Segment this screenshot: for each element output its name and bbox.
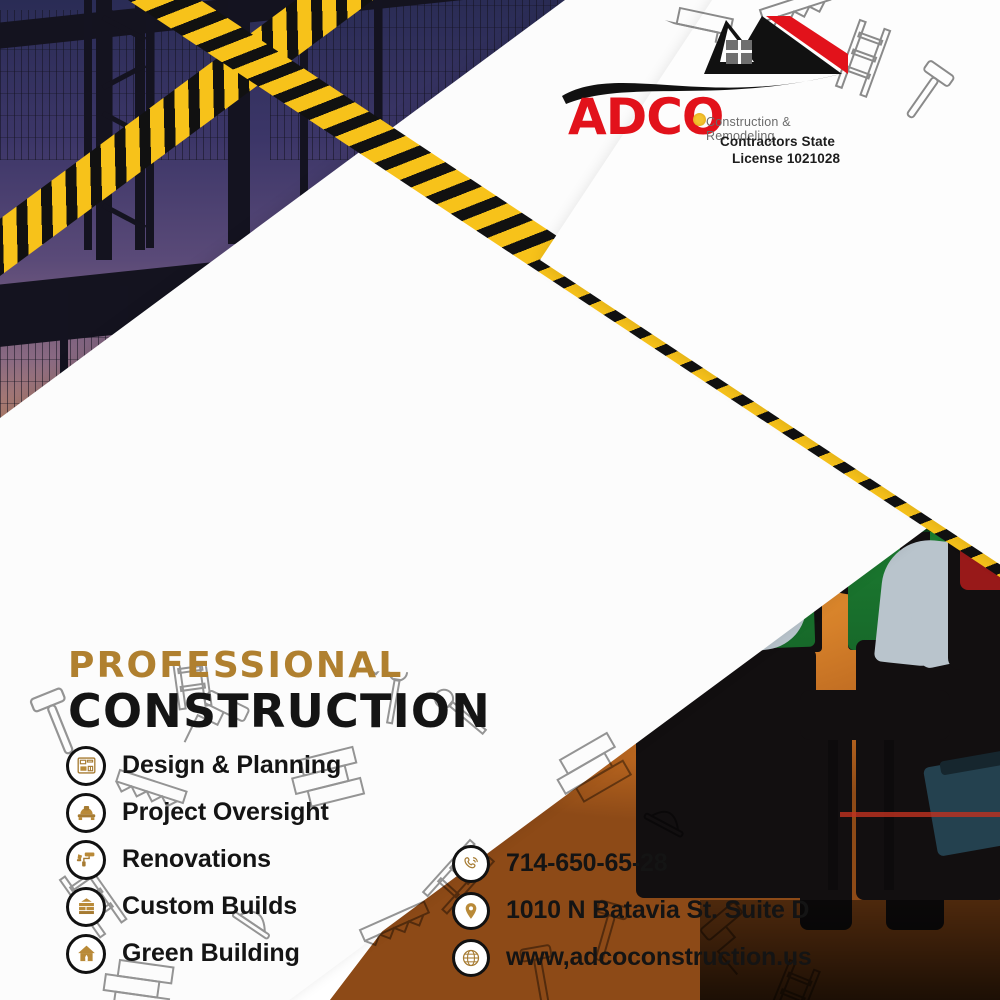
contact-item-address[interactable]: 1010 N Batavia St. Suite D [452,887,932,934]
service-item-custom-builds[interactable]: Custom Builds [66,883,426,930]
house-icon [66,934,106,974]
contact-label: 1010 N Batavia St. Suite D [506,896,809,925]
service-item-renovations[interactable]: Renovations [66,836,426,883]
contact-list: 714-650-65-28 1010 N Batavia St. Suite D [452,840,932,981]
logo-license-line1: Contractors State [720,134,835,149]
blueprint-icon [66,746,106,786]
sun-dot-icon [693,113,706,126]
headline-title: CONSTRUCTION [68,687,491,737]
logo-license-line2: License 1021028 [732,151,840,166]
phone-icon [452,845,490,883]
service-item-project-oversight[interactable]: Project Oversight [66,789,426,836]
poster-canvas: ADCO Construction & Remodeling Contracto… [0,0,1000,1000]
brick-wall-icon [66,887,106,927]
paint-roller-icon [66,840,106,880]
service-item-green-building[interactable]: Green Building [66,930,426,977]
contact-label: 714-650-65-28 [506,849,667,878]
headline-kicker: PROFESSIONAL [68,648,491,684]
contact-item-website[interactable]: www,adcoconstruction.us [452,934,932,981]
service-label: Custom Builds [122,892,297,921]
hardhat-toolbox-icon [66,793,106,833]
service-label: Renovations [122,845,271,874]
headline-block: PROFESSIONAL CONSTRUCTION [68,648,491,737]
contact-label: www,adcoconstruction.us [506,943,812,972]
service-item-design-planning[interactable]: Design & Planning [66,742,426,789]
service-label: Design & Planning [122,751,341,780]
brand-logo[interactable]: ADCO Construction & Remodeling Contracto… [560,14,860,164]
location-pin-icon [452,892,490,930]
globe-icon [452,939,490,977]
service-label: Project Oversight [122,798,329,827]
contact-item-phone[interactable]: 714-650-65-28 [452,840,932,887]
service-label: Green Building [122,939,300,968]
services-list: Design & Planning Project Oversight [66,742,426,977]
